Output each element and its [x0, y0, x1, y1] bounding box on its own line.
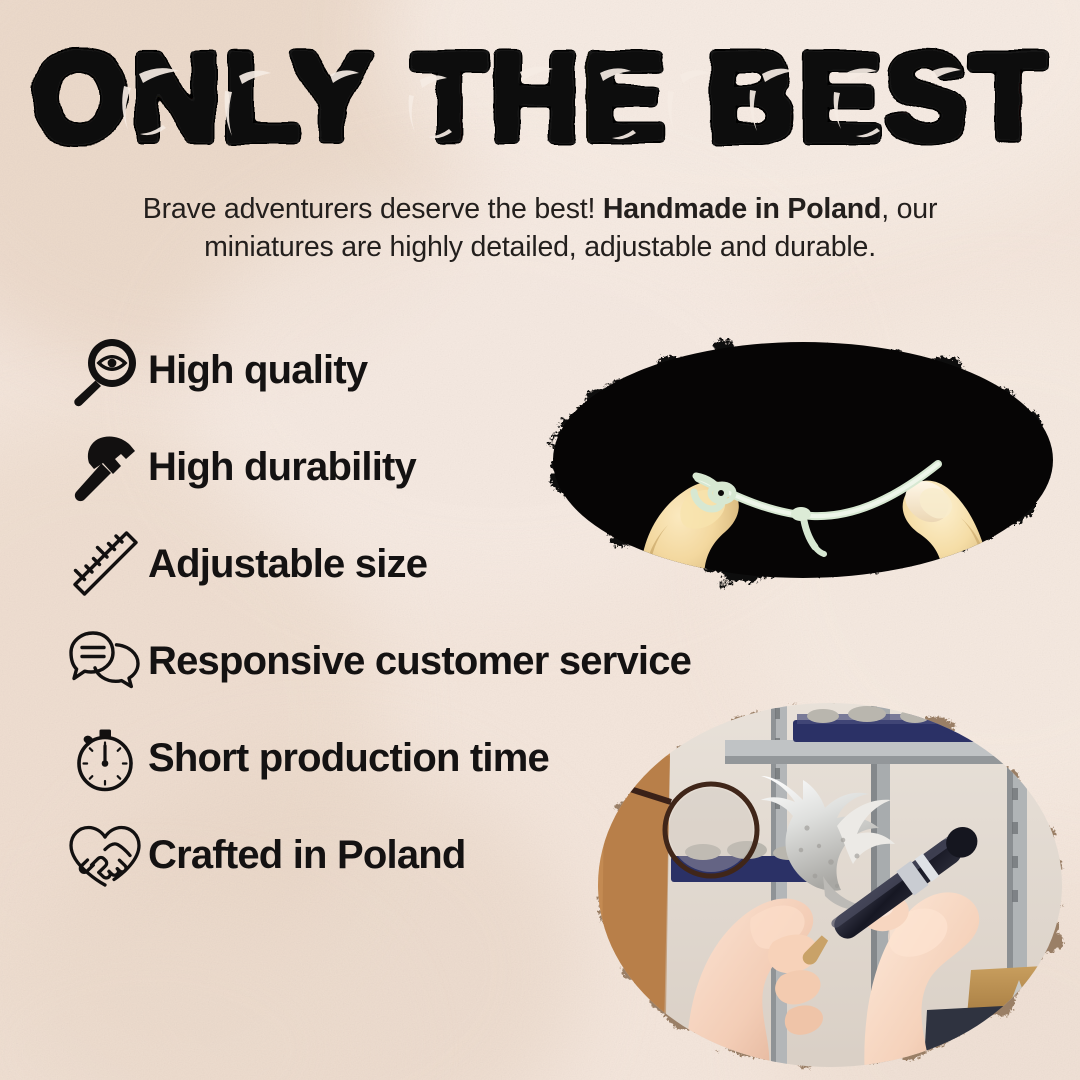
heart-handshake-icon: [62, 817, 148, 895]
subtitle-emphasis: Handmade in Poland: [603, 193, 881, 225]
subtitle: Brave adventurers deserve the best! Hand…: [90, 190, 990, 266]
feature-label: Short production time: [148, 736, 549, 781]
feature-label: Adjustable size: [148, 542, 427, 587]
photo-content: [575, 680, 1080, 1080]
speech-bubbles-icon: [62, 623, 148, 701]
feature-label: High durability: [148, 445, 416, 490]
miniature-chain-closeup-photo: [520, 300, 1080, 630]
subtitle-lead: Brave adventurers deserve the best!: [143, 193, 595, 225]
photo-content: [553, 342, 1053, 606]
headline-text: ONLY THE BEST: [31, 36, 1048, 167]
feature-label: Responsive customer service: [148, 639, 691, 684]
promotional-poster: ONLY THE BEST: [0, 0, 1080, 1080]
feature-label: High quality: [148, 348, 367, 393]
stopwatch-icon: [62, 720, 148, 798]
feature-label: Crafted in Poland: [148, 833, 466, 878]
workshop-painting-photo: [575, 680, 1080, 1080]
headline: ONLY THE BEST: [0, 36, 1080, 171]
hammer-icon: [62, 429, 148, 507]
ruler-icon: [62, 526, 148, 604]
magnifier-eye-icon: [62, 332, 148, 410]
